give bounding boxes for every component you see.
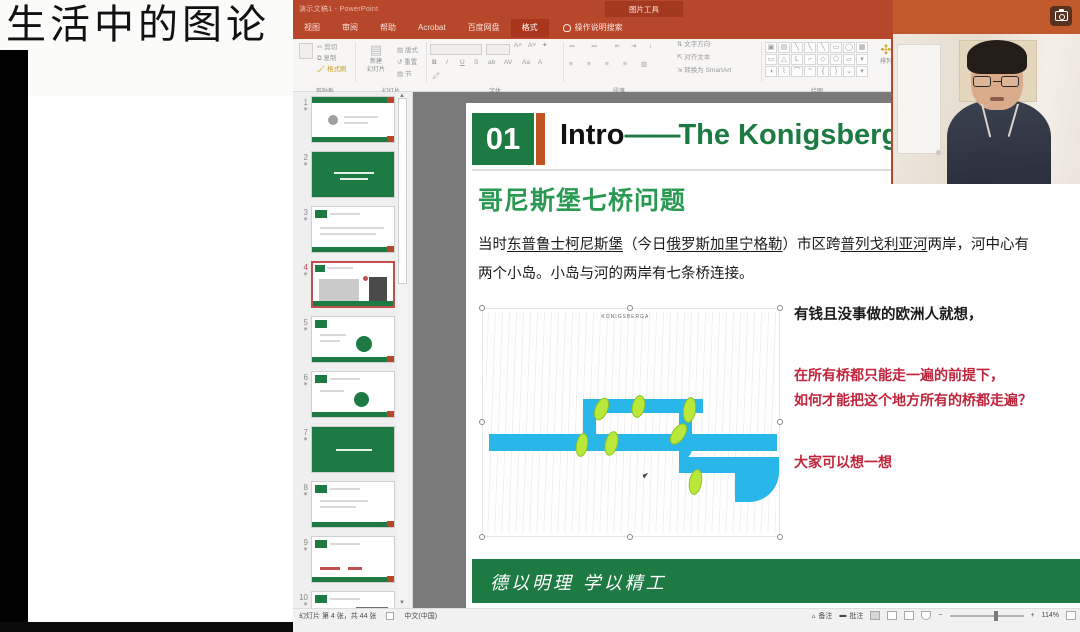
shadow-button[interactable]: S	[474, 58, 478, 68]
webcam-glasses-bridge	[993, 81, 1001, 82]
underline-button[interactable]: U	[460, 58, 465, 68]
align-text-button[interactable]: ⇱ 对齐文本	[677, 53, 710, 63]
view-slideshow-button[interactable]	[921, 611, 931, 620]
clear-formatting-button[interactable]: ✦	[542, 41, 547, 51]
tell-me-label: 操作说明搜索	[575, 22, 623, 33]
title-dash: ——	[624, 119, 678, 151]
konigsberg-map-image[interactable]: KONIGSBERGA	[482, 308, 780, 537]
shapes-gallery[interactable]: ▣▤╲╲╲▭◯▦ ▭△L⌐◇⬠▱▾ ◑⌇⌒⌃{}⌄▾	[765, 42, 868, 77]
text-direction-button[interactable]: ⇅ 文字方向	[677, 40, 710, 50]
thumbnail-slide-3[interactable]: 3✷	[293, 202, 412, 257]
thumbnail-card	[311, 481, 395, 528]
tab-review[interactable]: 审阅	[331, 19, 369, 37]
body-text-d: 两岸，河中心有	[928, 237, 1030, 253]
columns-button[interactable]: ▥	[641, 60, 647, 70]
scroll-down-icon[interactable]: ▼	[399, 600, 405, 606]
view-normal-button[interactable]	[870, 611, 880, 620]
question-line-red-2: 如何才能把这个地方所有的桥都走遍？	[794, 389, 1080, 414]
slide-footer: 德以明理 学以精工 4	[472, 559, 1080, 603]
status-slide-counter: 幻灯片 第 4 张，共 44 张	[299, 611, 376, 621]
bold-button[interactable]: B	[432, 58, 437, 68]
question-line-black: 有钱且没事做的欧洲人就想，	[794, 303, 1080, 324]
thumbnail-slide-6[interactable]: 6✷	[293, 367, 412, 422]
ribbon-group-slides: ▤新建幻灯片 ▤ 版式 ↺ 重置 ▤ 节 幻灯片	[359, 40, 423, 86]
question-line-red-3: 大家可以想一想	[794, 452, 1080, 472]
status-bar-right: ▵ 备注 ▬ 批注 − + 114%	[812, 611, 1076, 621]
font-color-button[interactable]: A	[538, 58, 542, 68]
question-line-red-1: 在所有桥都只能走一遍的前提下，	[794, 364, 1080, 389]
ribbon-separator-1	[355, 42, 356, 82]
view-slide-sorter-button[interactable]	[887, 611, 897, 620]
bullets-button[interactable]: ≔	[569, 42, 576, 52]
body-text-underline-3: 普列戈利亚河	[841, 237, 928, 253]
screenshot-camera-icon[interactable]	[1050, 6, 1072, 26]
tab-acrobat[interactable]: Acrobat	[407, 19, 457, 37]
increase-font-size-button[interactable]: A˄	[514, 41, 522, 51]
thumbnail-slide-2[interactable]: 2✷	[293, 147, 412, 202]
strikethrough-button[interactable]: ab	[488, 58, 495, 68]
view-reading-button[interactable]	[904, 611, 914, 620]
zoom-slider[interactable]	[950, 615, 1024, 617]
character-spacing-button[interactable]: AV	[504, 58, 512, 68]
ribbon-group-paragraph: ≔ ≕ ⇤ ⇥ ↕ ⇅ 文字方向 ⇱ 对齐文本 ⇲ 转换为 SmartArt ≡…	[567, 40, 757, 86]
resize-handle-e[interactable]	[777, 419, 783, 425]
resize-handle-n[interactable]	[627, 305, 633, 311]
webcam-glasses-right	[1001, 76, 1019, 87]
thumbnail-card	[311, 316, 395, 363]
tab-help[interactable]: 帮助	[369, 19, 407, 37]
zoom-level-label[interactable]: 114%	[1042, 612, 1059, 619]
course-title-strip: 生活中的图论	[0, 0, 293, 96]
thumbnail-card	[311, 536, 395, 583]
section-button[interactable]: ▤ 节	[397, 70, 411, 80]
ribbon-separator-3	[563, 42, 564, 82]
thumbnail-slide-8[interactable]: 8✷	[293, 477, 412, 532]
webcam-door	[897, 44, 941, 154]
left-black-bar	[0, 50, 28, 632]
thumbnail-card	[311, 371, 395, 418]
screen-root: 生活中的图论 演示文稿1 - PowerPoint 图片工具 视图 审阅 帮助 …	[0, 0, 1080, 632]
font-size-box[interactable]	[486, 41, 510, 59]
body-text-b: （今日	[623, 237, 667, 253]
thumbnail-slide-4[interactable]: 4✷	[293, 257, 412, 312]
ribbon-separator-4	[761, 42, 762, 82]
comments-button[interactable]: ▬ 批注	[839, 611, 863, 621]
question-text-block[interactable]: 有钱且没事做的欧洲人就想， 在所有桥都只能走一遍的前提下， 如何才能把这个地方所…	[794, 303, 1080, 472]
tab-baidu-netdisk[interactable]: 百度网盘	[457, 19, 511, 37]
footer-motto: 德以明理 学以精工	[490, 569, 667, 595]
webcam-person-mouth	[990, 97, 1004, 101]
ribbon-group-font: A˄ A˅ ✦ B I U S ab AV Aa A 🖍 字体	[430, 40, 560, 86]
thumbnail-slide-5[interactable]: 5✷	[293, 312, 412, 367]
context-tab-label: 图片工具	[605, 1, 683, 17]
scrollbar-thumb[interactable]	[398, 98, 407, 284]
map-caption: KONIGSBERGA	[601, 314, 649, 320]
body-text-line2: 两个小岛。小岛与河的两岸有七条桥连接。	[478, 266, 754, 282]
format-painter-button[interactable]: 🖌 格式刷	[317, 65, 347, 75]
river-main	[489, 434, 777, 451]
title-prefix: Intro	[560, 119, 624, 151]
resize-handle-se[interactable]	[777, 534, 783, 540]
thumbnail-slide-9[interactable]: 9✷	[293, 532, 412, 587]
slide-thumbnail-pane[interactable]: 1✷ 2✷ 3✷	[293, 92, 413, 608]
body-text-underline-1: 东普鲁士柯尼斯堡	[507, 237, 623, 253]
spellcheck-icon[interactable]	[386, 612, 394, 620]
webcam-glasses-left	[973, 76, 991, 87]
fit-slide-icon[interactable]	[1066, 611, 1076, 620]
tab-view[interactable]: 视图	[293, 19, 331, 37]
align-right-button[interactable]: ≡	[605, 60, 609, 70]
webcam-overlay[interactable]	[891, 0, 1080, 184]
resize-handle-ne[interactable]	[777, 305, 783, 311]
thumbnail-card	[311, 96, 395, 143]
italic-button[interactable]: I	[446, 58, 448, 68]
zoom-in-button[interactable]: +	[1031, 612, 1035, 619]
thumbnail-card	[311, 426, 395, 473]
font-name-box[interactable]	[430, 41, 482, 59]
window-title: 演示文稿1 - PowerPoint	[299, 4, 378, 14]
thumbnail-slide-1[interactable]: 1✷	[293, 92, 412, 147]
decrease-font-size-button[interactable]: A˅	[528, 41, 536, 51]
paste-button[interactable]	[299, 42, 313, 60]
lightbulb-icon	[563, 24, 571, 32]
thumbnail-card-selected	[311, 261, 395, 308]
map-engraving-texture	[486, 312, 776, 533]
status-language[interactable]: 中文(中国)	[404, 611, 437, 621]
layout-button[interactable]: ▤ 版式	[397, 46, 418, 56]
course-title: 生活中的图论	[6, 0, 270, 50]
body-text-underline-2: 俄罗斯加里宁格勒	[667, 237, 783, 253]
webcam-person-hair	[967, 40, 1027, 74]
notes-button[interactable]: ▵ 备注	[812, 611, 833, 621]
numbering-button[interactable]: ≕	[591, 42, 598, 52]
line-spacing-button[interactable]: ↕	[649, 42, 652, 52]
justify-button[interactable]: ≡	[623, 60, 627, 70]
thumbnail-card	[311, 206, 395, 253]
copy-button[interactable]: ⧉ 复制	[317, 54, 336, 64]
change-case-button[interactable]: Aa	[522, 58, 530, 68]
resize-handle-nw[interactable]	[479, 305, 485, 311]
zoom-out-button[interactable]: −	[938, 612, 942, 619]
new-slide-button[interactable]: ▤新建幻灯片	[359, 42, 393, 74]
reset-button[interactable]: ↺ 重置	[397, 58, 417, 68]
body-text-a: 当时	[478, 237, 507, 253]
thumbnail-card	[311, 591, 395, 608]
text-highlight-button[interactable]: 🖍	[432, 72, 440, 82]
tell-me-box[interactable]: 操作说明搜索	[563, 22, 623, 33]
decrease-indent-button[interactable]: ⇤	[615, 42, 620, 52]
webcam-person-body	[947, 100, 1051, 184]
section-accent-bar	[536, 113, 545, 165]
thumbnail-slide-10[interactable]: 10✷	[293, 587, 412, 608]
resize-handle-s[interactable]	[627, 534, 633, 540]
zoom-slider-knob[interactable]	[994, 611, 998, 621]
ribbon-separator-2	[426, 42, 427, 82]
align-left-button[interactable]: ≡	[569, 60, 573, 70]
slide-body-text[interactable]: 当时东普鲁士柯尼斯堡（今日俄罗斯加里宁格勒）市区跨普列戈利亚河两岸，河中心有 两…	[478, 231, 1080, 289]
cut-button[interactable]: ✂ 剪切	[317, 43, 337, 53]
convert-to-smartart-button[interactable]: ⇲ 转换为 SmartArt	[677, 66, 731, 76]
increase-indent-button[interactable]: ⇥	[631, 42, 636, 52]
section-number-box: 01	[472, 113, 534, 165]
status-bar: 幻灯片 第 4 张，共 44 张 中文(中国) ▵ 备注 ▬ 批注 − + 11…	[293, 608, 1080, 622]
ribbon-group-clipboard: ✂ 剪切 ⧉ 复制 🖌 格式刷 剪贴板	[297, 40, 353, 86]
resize-handle-w[interactable]	[479, 419, 485, 425]
body-text-c: ）市区跨	[783, 237, 841, 253]
resize-handle-sw[interactable]	[479, 534, 485, 540]
thumbnail-scrollbar[interactable]: ▲ ▼	[397, 94, 408, 606]
tab-format[interactable]: 格式	[511, 19, 549, 37]
thumbnail-slide-7[interactable]: 7✷	[293, 422, 412, 477]
thumbnail-card	[311, 151, 395, 198]
align-center-button[interactable]: ≡	[587, 60, 591, 70]
slide-heading[interactable]: 哥尼斯堡七桥问题	[478, 181, 686, 217]
